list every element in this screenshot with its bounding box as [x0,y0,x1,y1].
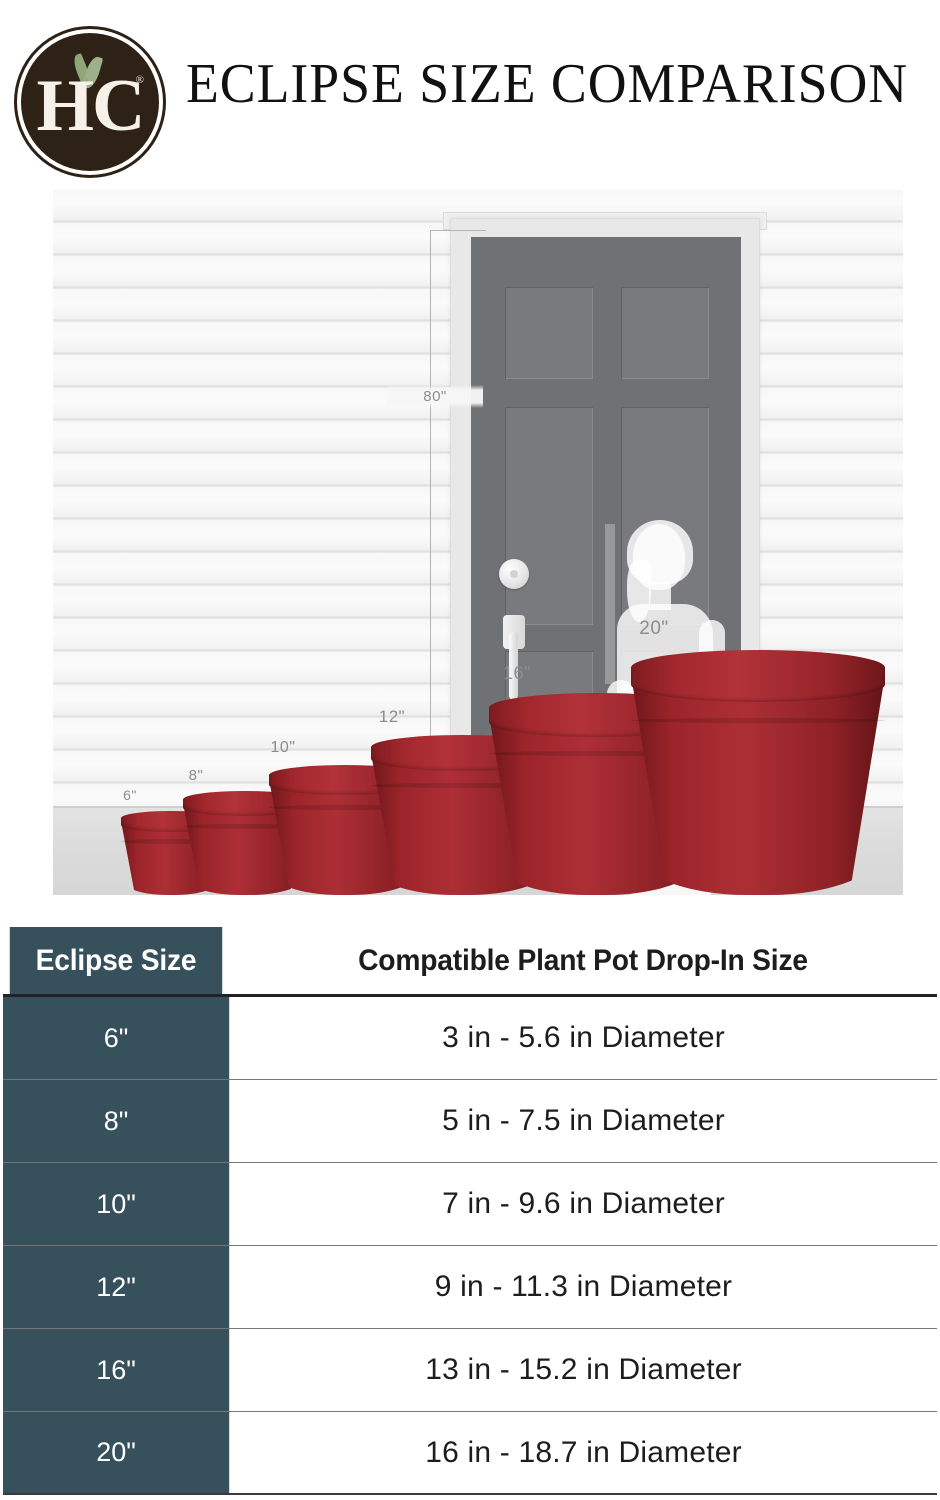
column-header-eclipse-size: Eclipse Size [10,927,222,994]
door-height-measurement: 80" [393,230,473,816]
door-panel-top-right [621,287,709,379]
brand-logo: HC ® [14,26,166,178]
logo-monogram: HC [14,26,166,178]
cell-eclipse-size: 20" [3,1412,229,1493]
measurement-line [430,230,431,816]
page-title: ECLIPSE SIZE COMPARISON [186,48,898,120]
table-header-row: Eclipse Size Compatible Plant Pot Drop-I… [3,927,937,997]
cell-eclipse-size: 6" [3,997,229,1079]
pot-label-12in: 12" [349,707,435,727]
pot-label-10in: 10" [243,739,323,757]
silhouette-leg-split [605,524,615,684]
pot-body-20in [631,675,885,895]
pot-rim-20in [631,650,885,702]
header: HC ® ECLIPSE SIZE COMPARISON [0,0,940,185]
cell-eclipse-size: 8" [3,1080,229,1162]
cell-compatible-size: 5 in - 7.5 in Diameter [229,1080,937,1162]
size-chart-table: Eclipse Size Compatible Plant Pot Drop-I… [3,927,937,1495]
pot-label-6in: 6" [95,787,165,803]
measurement-label: 80" [387,385,483,408]
cell-eclipse-size: 10" [3,1163,229,1245]
table-row: 6" 3 in - 5.6 in Diameter [3,997,937,1080]
measurement-top-cap [430,230,486,231]
cell-compatible-size: 9 in - 11.3 in Diameter [229,1246,937,1328]
registered-trademark-icon: ® [136,74,144,86]
table-row: 16" 13 in - 15.2 in Diameter [3,1329,937,1412]
planter-pot-20in-main: 20" [631,650,885,895]
cell-compatible-size: 7 in - 9.6 in Diameter [229,1163,937,1245]
cell-eclipse-size: 12" [3,1246,229,1328]
cell-compatible-size: 16 in - 18.7 in Diameter [229,1412,937,1493]
pot-label-16in: 16" [469,663,565,684]
table-row: 20" 16 in - 18.7 in Diameter [3,1412,937,1495]
table-row: 12" 9 in - 11.3 in Diameter [3,1246,937,1329]
cell-compatible-size: 13 in - 15.2 in Diameter [229,1329,937,1411]
table-row: 10" 7 in - 9.6 in Diameter [3,1163,937,1246]
cell-compatible-size: 3 in - 5.6 in Diameter [229,997,937,1079]
deadbolt-lock-icon [499,559,529,589]
door-panel-middle-left [505,407,593,625]
size-comparison-photo: 80" 6" 8" 10" 12" 16" 20" [53,190,903,895]
column-header-compatible-size: Compatible Plant Pot Drop-In Size [250,927,916,994]
pot-label-8in: 8" [161,767,231,784]
pot-band-20in [631,718,885,723]
table-row: 8" 5 in - 7.5 in Diameter [3,1080,937,1163]
cell-eclipse-size: 16" [3,1329,229,1411]
pot-label-20in: 20" [599,618,709,640]
door-panel-top-left [505,287,593,379]
